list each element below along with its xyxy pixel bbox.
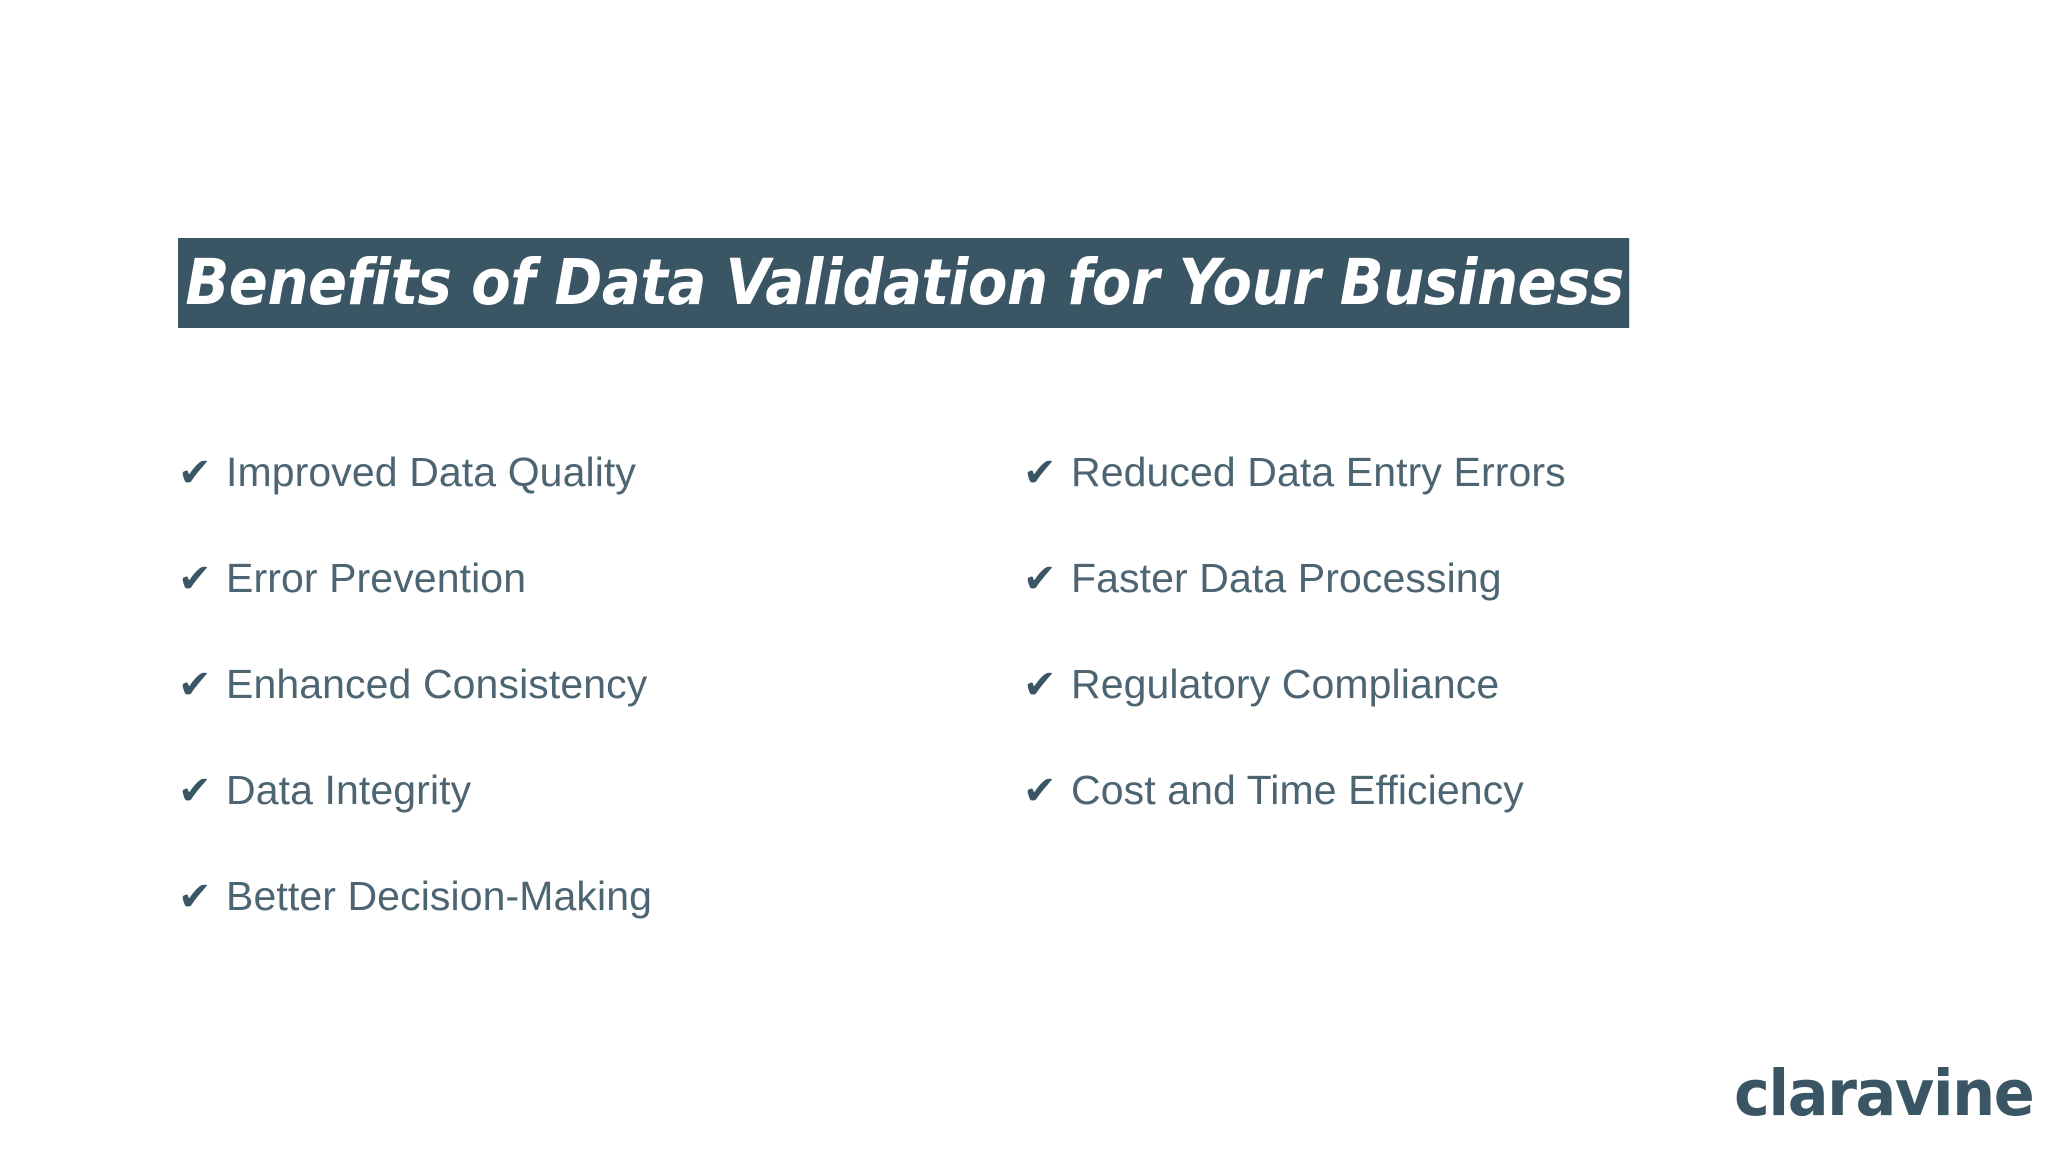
- list-item-label: Faster Data Processing: [1071, 558, 1502, 599]
- list-item: ✔ Enhanced Consistency: [178, 664, 1023, 770]
- claravine-logo: claravine: [1734, 1062, 2048, 1126]
- list-item-label: Error Prevention: [226, 558, 526, 599]
- check-icon: ✔: [178, 665, 226, 705]
- logo-wordmark: claravine: [1734, 1062, 2033, 1126]
- list-item: ✔ Regulatory Compliance: [1023, 664, 1868, 770]
- list-item-label: Regulatory Compliance: [1071, 664, 1499, 705]
- benefits-column-left: ✔ Improved Data Quality ✔ Error Preventi…: [178, 452, 1023, 982]
- list-item: ✔ Improved Data Quality: [178, 452, 1023, 558]
- check-icon: ✔: [1023, 559, 1071, 599]
- check-icon: ✔: [178, 771, 226, 811]
- list-item: ✔ Error Prevention: [178, 558, 1023, 664]
- list-item-label: Improved Data Quality: [226, 452, 636, 493]
- page-title-text: Benefits of Data Validation for Your Bus…: [178, 238, 1629, 328]
- list-item-label: Enhanced Consistency: [226, 664, 647, 705]
- check-icon: ✔: [178, 877, 226, 917]
- benefits-column-right: ✔ Reduced Data Entry Errors ✔ Faster Dat…: [1023, 452, 1868, 982]
- list-item: ✔ Better Decision-Making: [178, 876, 1023, 982]
- list-item-label: Data Integrity: [226, 770, 471, 811]
- check-icon: ✔: [1023, 665, 1071, 705]
- list-item: ✔ Data Integrity: [178, 770, 1023, 876]
- list-item-label: Reduced Data Entry Errors: [1071, 452, 1566, 493]
- page-title: Benefits of Data Validation for Your Bus…: [178, 238, 1764, 328]
- check-icon: ✔: [1023, 771, 1071, 811]
- check-icon: ✔: [1023, 453, 1071, 493]
- slide-canvas: Benefits of Data Validation for Your Bus…: [0, 0, 2048, 1152]
- list-item-label: Cost and Time Efficiency: [1071, 770, 1524, 811]
- list-item-label: Better Decision-Making: [226, 876, 652, 917]
- list-item: ✔ Reduced Data Entry Errors: [1023, 452, 1868, 558]
- benefits-columns: ✔ Improved Data Quality ✔ Error Preventi…: [178, 452, 1878, 982]
- list-item: ✔ Cost and Time Efficiency: [1023, 770, 1868, 876]
- list-item: ✔ Faster Data Processing: [1023, 558, 1868, 664]
- check-icon: ✔: [178, 559, 226, 599]
- check-icon: ✔: [178, 453, 226, 493]
